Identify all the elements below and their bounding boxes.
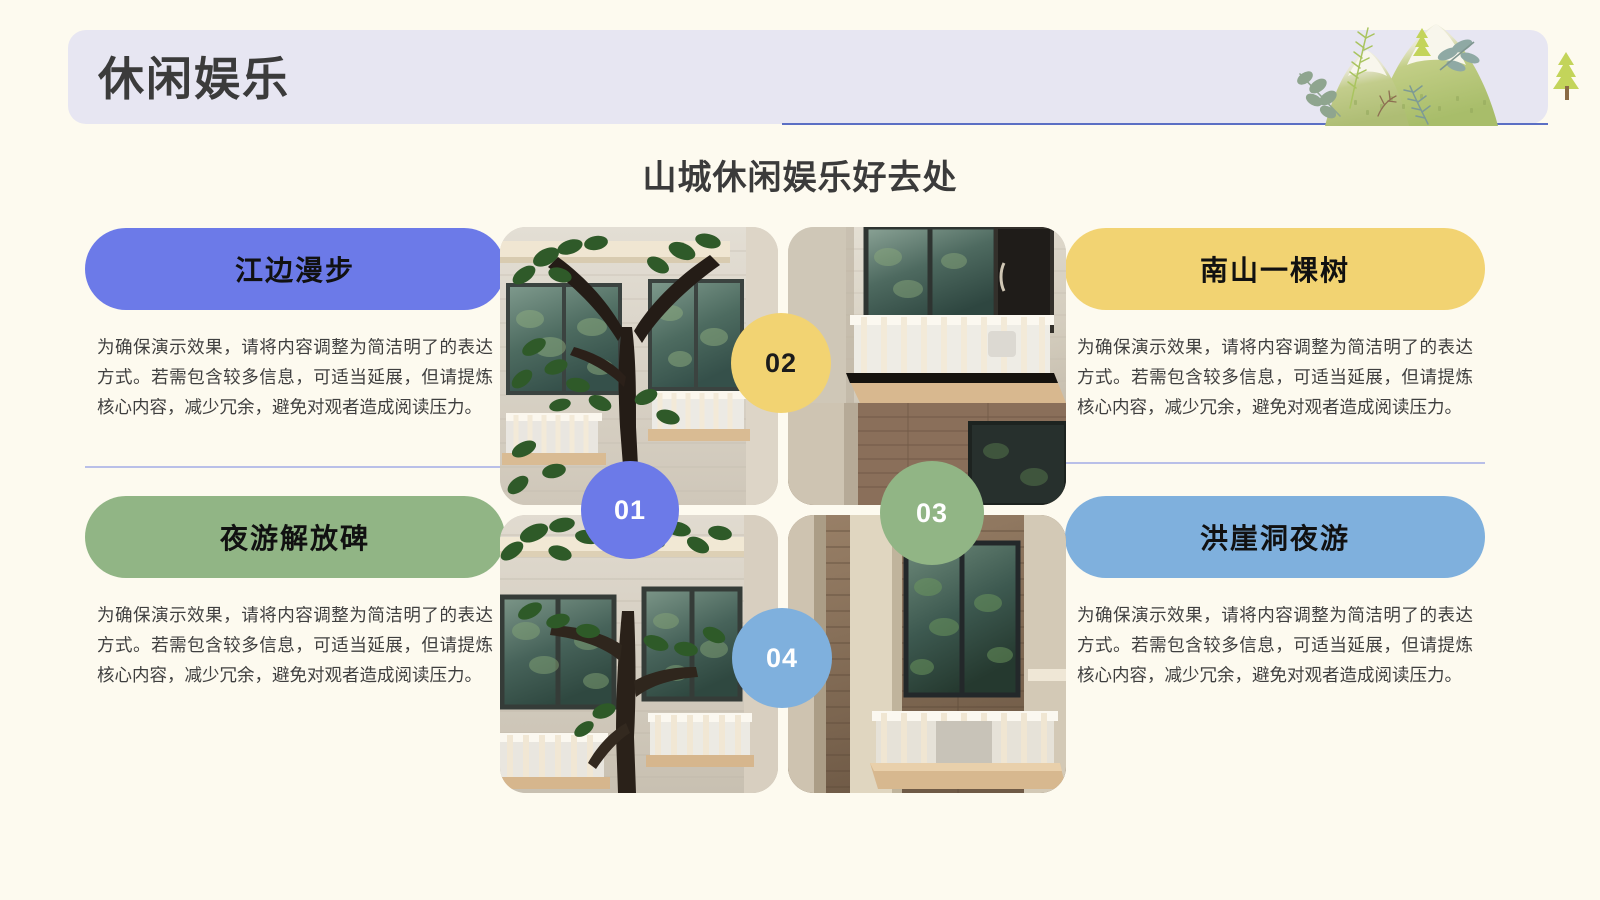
card-body-hongyadongyeyou: 为确保演示效果，请将内容调整为简洁明了的表达方式。若需包含较多信息，可适当延展，… (1065, 600, 1485, 690)
right-column: 南山一棵树 为确保演示效果，请将内容调整为简洁明了的表达方式。若需包含较多信息，… (1065, 228, 1485, 691)
number-circle-02[interactable]: 02 (731, 313, 831, 413)
right-column-divider (1065, 462, 1485, 464)
number-label: 04 (766, 643, 798, 674)
left-column-divider (85, 466, 505, 468)
card-heading-label: 南山一棵树 (1200, 249, 1350, 289)
header-accent-line (782, 123, 1548, 125)
number-circle-01[interactable]: 01 (581, 461, 679, 559)
card-heading-jiangbianmanbu[interactable]: 江边漫步 (85, 228, 505, 310)
card-heading-yeyoujiefangbei[interactable]: 夜游解放碑 (85, 496, 505, 578)
number-circle-04[interactable]: 04 (732, 608, 832, 708)
card-heading-hongyadongyeyou[interactable]: 洪崖洞夜游 (1065, 496, 1485, 578)
number-circle-03[interactable]: 03 (880, 461, 984, 565)
card-body-jiangbianmanbu: 为确保演示效果，请将内容调整为简洁明了的表达方式。若需包含较多信息，可适当延展，… (85, 332, 505, 422)
number-label: 03 (916, 498, 948, 529)
card-heading-label: 洪崖洞夜游 (1200, 517, 1350, 557)
card-body-nanshanyikeshu: 为确保演示效果，请将内容调整为简洁明了的表达方式。若需包含较多信息，可适当延展，… (1065, 332, 1485, 422)
number-label: 02 (765, 348, 797, 379)
page-title: 休闲娱乐 (98, 56, 290, 102)
section-title: 山城休闲娱乐好去处 (0, 150, 1600, 199)
left-column: 江边漫步 为确保演示效果，请将内容调整为简洁明了的表达方式。若需包含较多信息，可… (85, 228, 505, 691)
card-heading-nanshanyikeshu[interactable]: 南山一棵树 (1065, 228, 1485, 310)
header-bar (68, 30, 1548, 124)
card-heading-label: 夜游解放碑 (220, 517, 370, 557)
card-body-yeyoujiefangbei: 为确保演示效果，请将内容调整为简洁明了的表达方式。若需包含较多信息，可适当延展，… (85, 600, 505, 690)
card-heading-label: 江边漫步 (235, 249, 355, 289)
number-label: 01 (614, 495, 646, 526)
